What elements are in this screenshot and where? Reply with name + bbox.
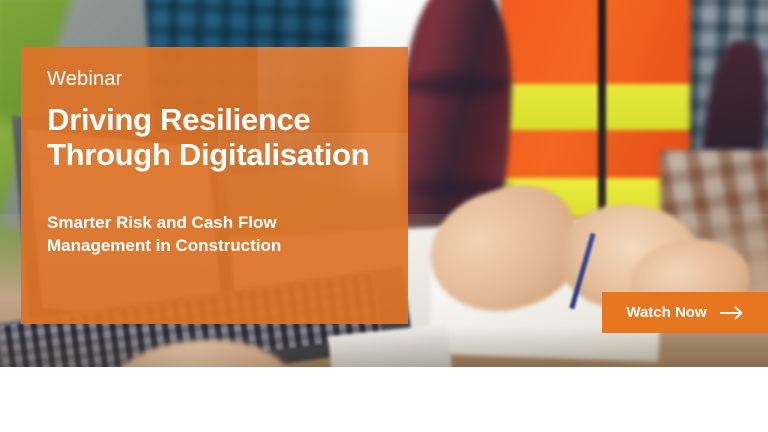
subtitle-line-2: Management in Construction [47, 236, 281, 255]
eyebrow-label: Webinar [47, 69, 382, 89]
headline-line-1: Driving Resilience [47, 102, 310, 137]
photo-bottom-shadow [0, 327, 768, 367]
headline-line-2: Through Digitalisation [47, 137, 369, 172]
footer-bar: 4PS Business Software for Construction 4… [0, 367, 768, 432]
content-panel: Webinar Driving Resilience Through Digit… [21, 47, 408, 324]
page-title: Driving Resilience Through Digitalisatio… [47, 103, 382, 172]
arrow-right-icon [720, 306, 744, 320]
webinar-banner: Webinar Driving Resilience Through Digit… [0, 0, 768, 432]
subtitle-line-1: Smarter Risk and Cash Flow [47, 213, 277, 232]
watch-now-label: Watch Now [626, 305, 706, 320]
photo-sleeve-fold-upper [404, 74, 508, 96]
subtitle: Smarter Risk and Cash Flow Management in… [47, 212, 382, 256]
watch-now-button[interactable]: Watch Now [602, 292, 768, 333]
